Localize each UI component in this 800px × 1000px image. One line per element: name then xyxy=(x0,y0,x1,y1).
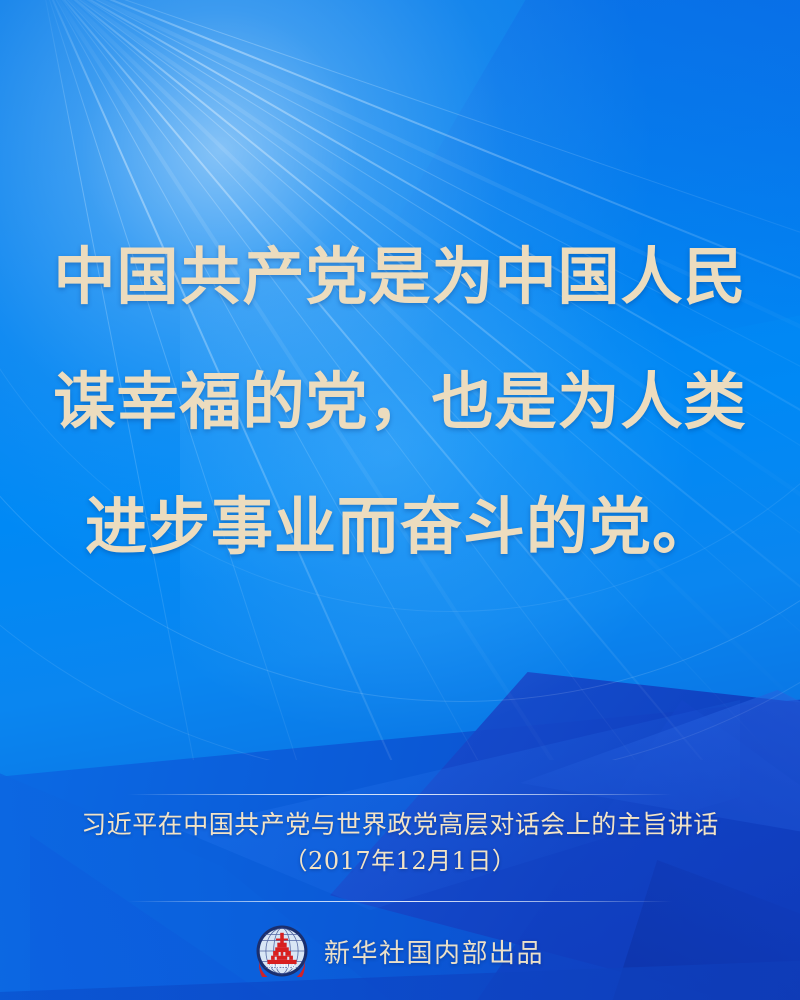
headline-quote: 中国共产党是为中国人民 谋幸福的党，也是为人类 进步事业而奋斗的党。 xyxy=(0,214,800,589)
xinhua-logo-icon: XINHUA xyxy=(256,925,308,977)
caption-title: 习近平在中国共产党与世界政党高层对话会上的主旨讲话 xyxy=(0,806,800,843)
headline-line-3: 进步事业而奋斗的党。 xyxy=(0,464,800,589)
caption-date: （2017年12月1日） xyxy=(0,843,800,880)
poster-canvas: 中国共产党是为中国人民 谋幸福的党，也是为人类 进步事业而奋斗的党。 习近平在中… xyxy=(0,0,800,1000)
headline-line-1: 中国共产党是为中国人民 xyxy=(0,214,800,339)
divider-top xyxy=(128,794,672,795)
headline-line-2: 谋幸福的党，也是为人类 xyxy=(0,339,800,464)
footer-text: 新华社国内部出品 xyxy=(324,933,544,970)
svg-text:XINHUA: XINHUA xyxy=(267,965,296,971)
caption-block: 习近平在中国共产党与世界政党高层对话会上的主旨讲话 （2017年12月1日） xyxy=(0,806,800,880)
divider-bottom xyxy=(128,901,672,902)
footer-credit: XINHUA 新华社国内部出品 xyxy=(0,925,800,977)
